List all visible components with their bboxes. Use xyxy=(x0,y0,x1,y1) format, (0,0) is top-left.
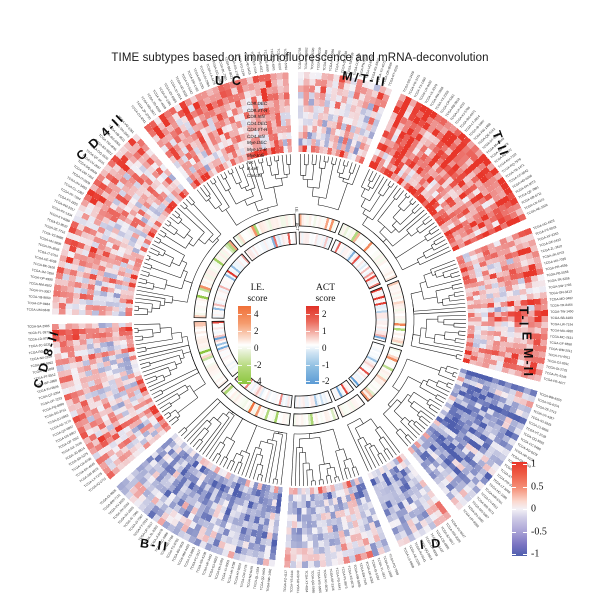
group-label-ie: E xyxy=(519,332,533,343)
svg-text:TCGA-SA-2985: TCGA-SA-2985 xyxy=(27,324,50,329)
svg-text:TCGA-GF-6558: TCGA-GF-6558 xyxy=(549,340,572,346)
svg-text:TCGA-EJ-9337: TCGA-EJ-9337 xyxy=(276,48,282,70)
svg-text:TCGA-IF-9369: TCGA-IF-9369 xyxy=(322,49,328,70)
group-label-id: I D xyxy=(419,536,443,552)
row-label: CD8.DEC xyxy=(247,101,268,108)
svg-text:TCGA-SB-6183: TCGA-SB-6183 xyxy=(550,316,573,320)
svg-text:TCGA-HN-9239: TCGA-HN-9239 xyxy=(316,47,322,70)
svg-text:TCGA-TT-5733: TCGA-TT-5733 xyxy=(298,47,302,69)
svg-text:TCGA-TW-1450: TCGA-TW-1450 xyxy=(550,309,573,314)
svg-text:TCGA-BF-2326: TCGA-BF-2326 xyxy=(329,568,336,591)
svg-text:I.E.: I.E. xyxy=(294,207,299,214)
svg-text:TCGA-UM-5848: TCGA-UM-5848 xyxy=(27,308,50,313)
annotation-rings: I.E.ACT xyxy=(194,207,406,426)
svg-text:TCGA-XC-9034: TCGA-XC-9034 xyxy=(323,569,329,592)
ie-color-bar xyxy=(238,306,251,384)
svg-text:TCGA-NM-4502: TCGA-NM-4502 xyxy=(29,281,53,288)
ie-tick: -4 xyxy=(254,376,262,386)
svg-text:TCGA-YS-6444: TCGA-YS-6444 xyxy=(289,570,294,593)
ie-tick: 4 xyxy=(254,309,259,319)
act-score-legend: ACT score 2 1 0 -1 -2 xyxy=(306,283,345,384)
cbar-tick: -1 xyxy=(531,549,539,560)
svg-text:TCGA-SW-1703: TCGA-SW-1703 xyxy=(548,283,572,290)
act-legend-ticks: 2 1 0 -1 -2 xyxy=(319,306,345,384)
svg-text:TCGA-LW-7194: TCGA-LW-7194 xyxy=(550,322,573,326)
svg-text:TCGA-ZK-4561: TCGA-ZK-4561 xyxy=(270,49,276,72)
svg-text:TCGA-GN-3413: TCGA-GN-3413 xyxy=(549,289,572,295)
act-tick: -1 xyxy=(322,360,330,370)
group-label-t1: T-I xyxy=(517,306,531,327)
svg-text:TCGA-FS-6882: TCGA-FS-6882 xyxy=(304,47,309,69)
svg-text:TCGA-XT-4854: TCGA-XT-4854 xyxy=(304,570,308,592)
row-label: Cancer xyxy=(247,173,263,180)
act-color-bar xyxy=(306,306,319,384)
svg-text:ACT: ACT xyxy=(295,223,300,232)
circular-heatmap-figure: TCGA-TT-5733TCGA-FS-6882TCGA-PF-4320TCGA… xyxy=(0,0,600,612)
svg-text:TCGA-XY-3057: TCGA-XY-3057 xyxy=(29,288,52,294)
act-tick: -2 xyxy=(322,376,330,386)
row-label: CD8.Infil xyxy=(247,114,265,121)
act-legend-title: ACT score xyxy=(306,283,345,304)
svg-text:TCGA-GP-9484: TCGA-GP-9484 xyxy=(27,301,50,306)
row-label: CD4.I/T-R xyxy=(247,127,268,134)
svg-text:TCGA-MC-7831: TCGA-MC-7831 xyxy=(550,334,573,340)
row-label: Mye.DEC xyxy=(247,140,267,147)
ie-tick: -2 xyxy=(254,360,262,370)
svg-text:TCGA-MA-4920: TCGA-MA-4920 xyxy=(550,328,573,333)
svg-text:TCGA-OS-6249: TCGA-OS-6249 xyxy=(296,570,300,593)
cbar-tick: 0.5 xyxy=(531,482,544,493)
cbar-tick: 1 xyxy=(531,459,536,470)
main-colorbar-gradient xyxy=(512,462,527,556)
svg-text:TCGA-QG-5985: TCGA-QG-5985 xyxy=(310,570,315,593)
svg-text:TCGA-PZ-4117: TCGA-PZ-4117 xyxy=(283,570,288,592)
cbar-tick: 0 xyxy=(531,504,536,515)
act-tick: 2 xyxy=(322,309,327,319)
group-label-uc: U C xyxy=(215,74,243,88)
svg-text:TCGA-PF-4320: TCGA-PF-4320 xyxy=(310,47,315,70)
row-label-list: CD8.DEC CD8.I/T-R CD8.Infil CD4.DEC CD4.… xyxy=(247,101,307,180)
ie-legend-ticks: 4 2 0 -2 -4 xyxy=(251,306,277,384)
act-tick: 1 xyxy=(322,326,327,336)
ie-tick: 0 xyxy=(254,343,259,353)
svg-text:TCGA-MO-3482: TCGA-MO-3482 xyxy=(550,296,574,302)
ie-legend-title: I.E. score xyxy=(238,283,277,304)
act-tick: 0 xyxy=(322,343,327,353)
ie-score-legend: I.E. score 4 2 0 -2 -4 xyxy=(238,283,277,384)
group-label-m2: M-II xyxy=(521,348,535,378)
ie-tick: 2 xyxy=(254,326,259,336)
main-colorbar: 1 0.5 0 -0.5 -1 xyxy=(512,462,527,556)
svg-text:TCGA-YB-9850: TCGA-YB-9850 xyxy=(28,294,51,300)
svg-text:TCGA-WF-1482: TCGA-WF-1482 xyxy=(266,568,273,592)
main-colorbar-ticks: 1 0.5 0 -0.5 -1 xyxy=(531,462,565,556)
svg-text:TCGA-WS-5655: TCGA-WS-5655 xyxy=(316,570,322,594)
dendrogram-ring xyxy=(134,154,466,486)
svg-text:TCGA-YR-8464: TCGA-YR-8464 xyxy=(550,303,573,308)
cbar-tick: -0.5 xyxy=(531,527,547,538)
row-label: Mye.Infil xyxy=(247,153,265,160)
svg-text:TCGA-LV-5794: TCGA-LV-5794 xyxy=(283,48,288,70)
